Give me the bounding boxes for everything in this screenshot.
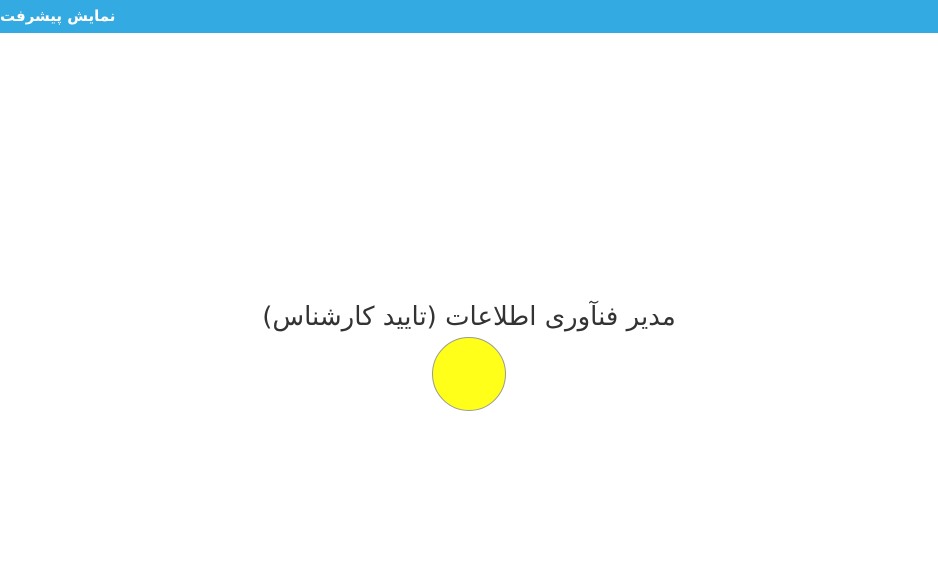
workflow-node[interactable]: مدیر فنآوری اطلاعات (تایید کارشناس) bbox=[0, 300, 938, 411]
page-title: نمایش پیشرفت bbox=[0, 9, 115, 24]
page-header: نمایش پیشرفت bbox=[0, 0, 938, 33]
workflow-node-label: مدیر فنآوری اطلاعات (تایید کارشناس) bbox=[262, 300, 676, 334]
progress-canvas: مدیر فنآوری اطلاعات (تایید کارشناس) bbox=[0, 33, 938, 574]
workflow-node-status-circle[interactable] bbox=[432, 337, 506, 411]
